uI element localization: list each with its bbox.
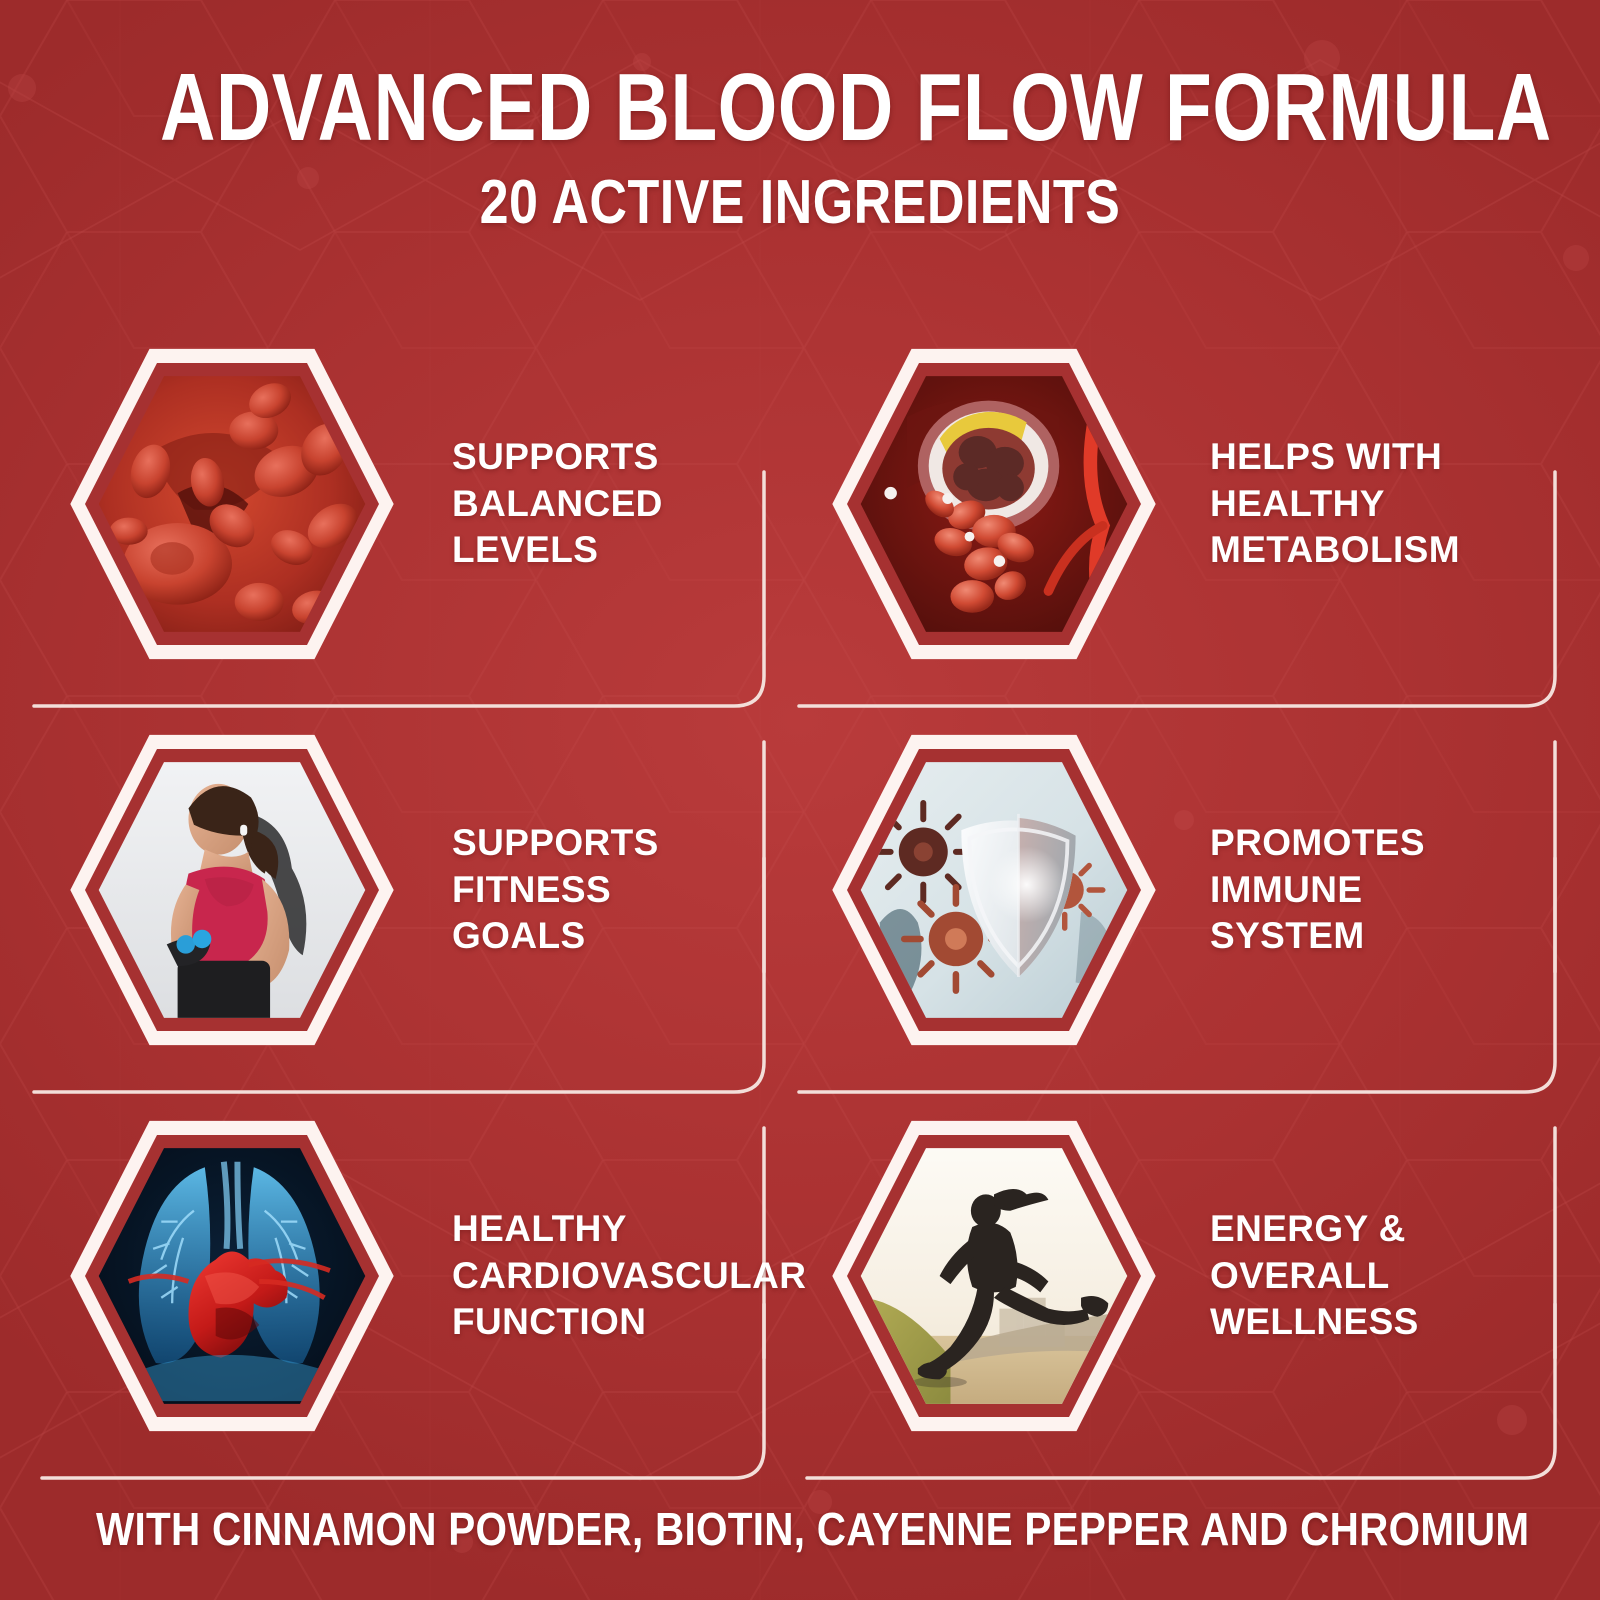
hexagon-frame bbox=[818, 714, 1170, 1066]
feature-promotes-immune-system: PROMOTES IMMUNE SYSTEM bbox=[792, 704, 1570, 1076]
feature-healthy-cardiovascular-function: HEALTHY CARDIOVASCULAR FUNCTION bbox=[30, 1090, 775, 1462]
hexagon-frame bbox=[56, 1100, 408, 1452]
hexagon-frame bbox=[818, 328, 1170, 680]
infographic-page: ADVANCED BLOOD FLOW FORMULA 20 ACTIVE IN… bbox=[0, 0, 1600, 1600]
hexagon-frame bbox=[56, 328, 408, 680]
page-subtitle: 20 ACTIVE INGREDIENTS bbox=[128, 172, 1472, 234]
feature-caption: HELPS WITH HEALTHY METABOLISM bbox=[1170, 434, 1570, 574]
feature-helps-with-healthy-metabolism: HELPS WITH HEALTHY METABOLISM bbox=[792, 318, 1570, 690]
feature-supports-balanced-levels: SUPPORTS BALANCED LEVELS bbox=[30, 318, 775, 690]
feature-energy-and-overall-wellness: ENERGY & OVERALL WELLNESS bbox=[792, 1090, 1570, 1462]
feature-supports-fitness-goals: SUPPORTS FITNESS GOALS bbox=[30, 704, 775, 1076]
feature-caption: PROMOTES IMMUNE SYSTEM bbox=[1170, 820, 1570, 960]
footer-ingredients-text: WITH CINNAMON POWDER, BIOTIN, CAYENNE PE… bbox=[96, 1506, 1504, 1552]
header: ADVANCED BLOOD FLOW FORMULA 20 ACTIVE IN… bbox=[0, 0, 1600, 234]
feature-caption: SUPPORTS FITNESS GOALS bbox=[408, 820, 775, 960]
feature-caption: ENERGY & OVERALL WELLNESS bbox=[1170, 1206, 1570, 1346]
hexagon-frame bbox=[818, 1100, 1170, 1452]
features-grid: SUPPORTS BALANCED LEVELS bbox=[30, 318, 1570, 1478]
page-title: ADVANCED BLOOD FLOW FORMULA bbox=[160, 60, 1440, 156]
hexagon-frame bbox=[56, 714, 408, 1066]
feature-caption: HEALTHY CARDIOVASCULAR FUNCTION bbox=[408, 1206, 818, 1346]
footer: WITH CINNAMON POWDER, BIOTIN, CAYENNE PE… bbox=[0, 1506, 1600, 1552]
feature-caption: SUPPORTS BALANCED LEVELS bbox=[408, 434, 775, 574]
